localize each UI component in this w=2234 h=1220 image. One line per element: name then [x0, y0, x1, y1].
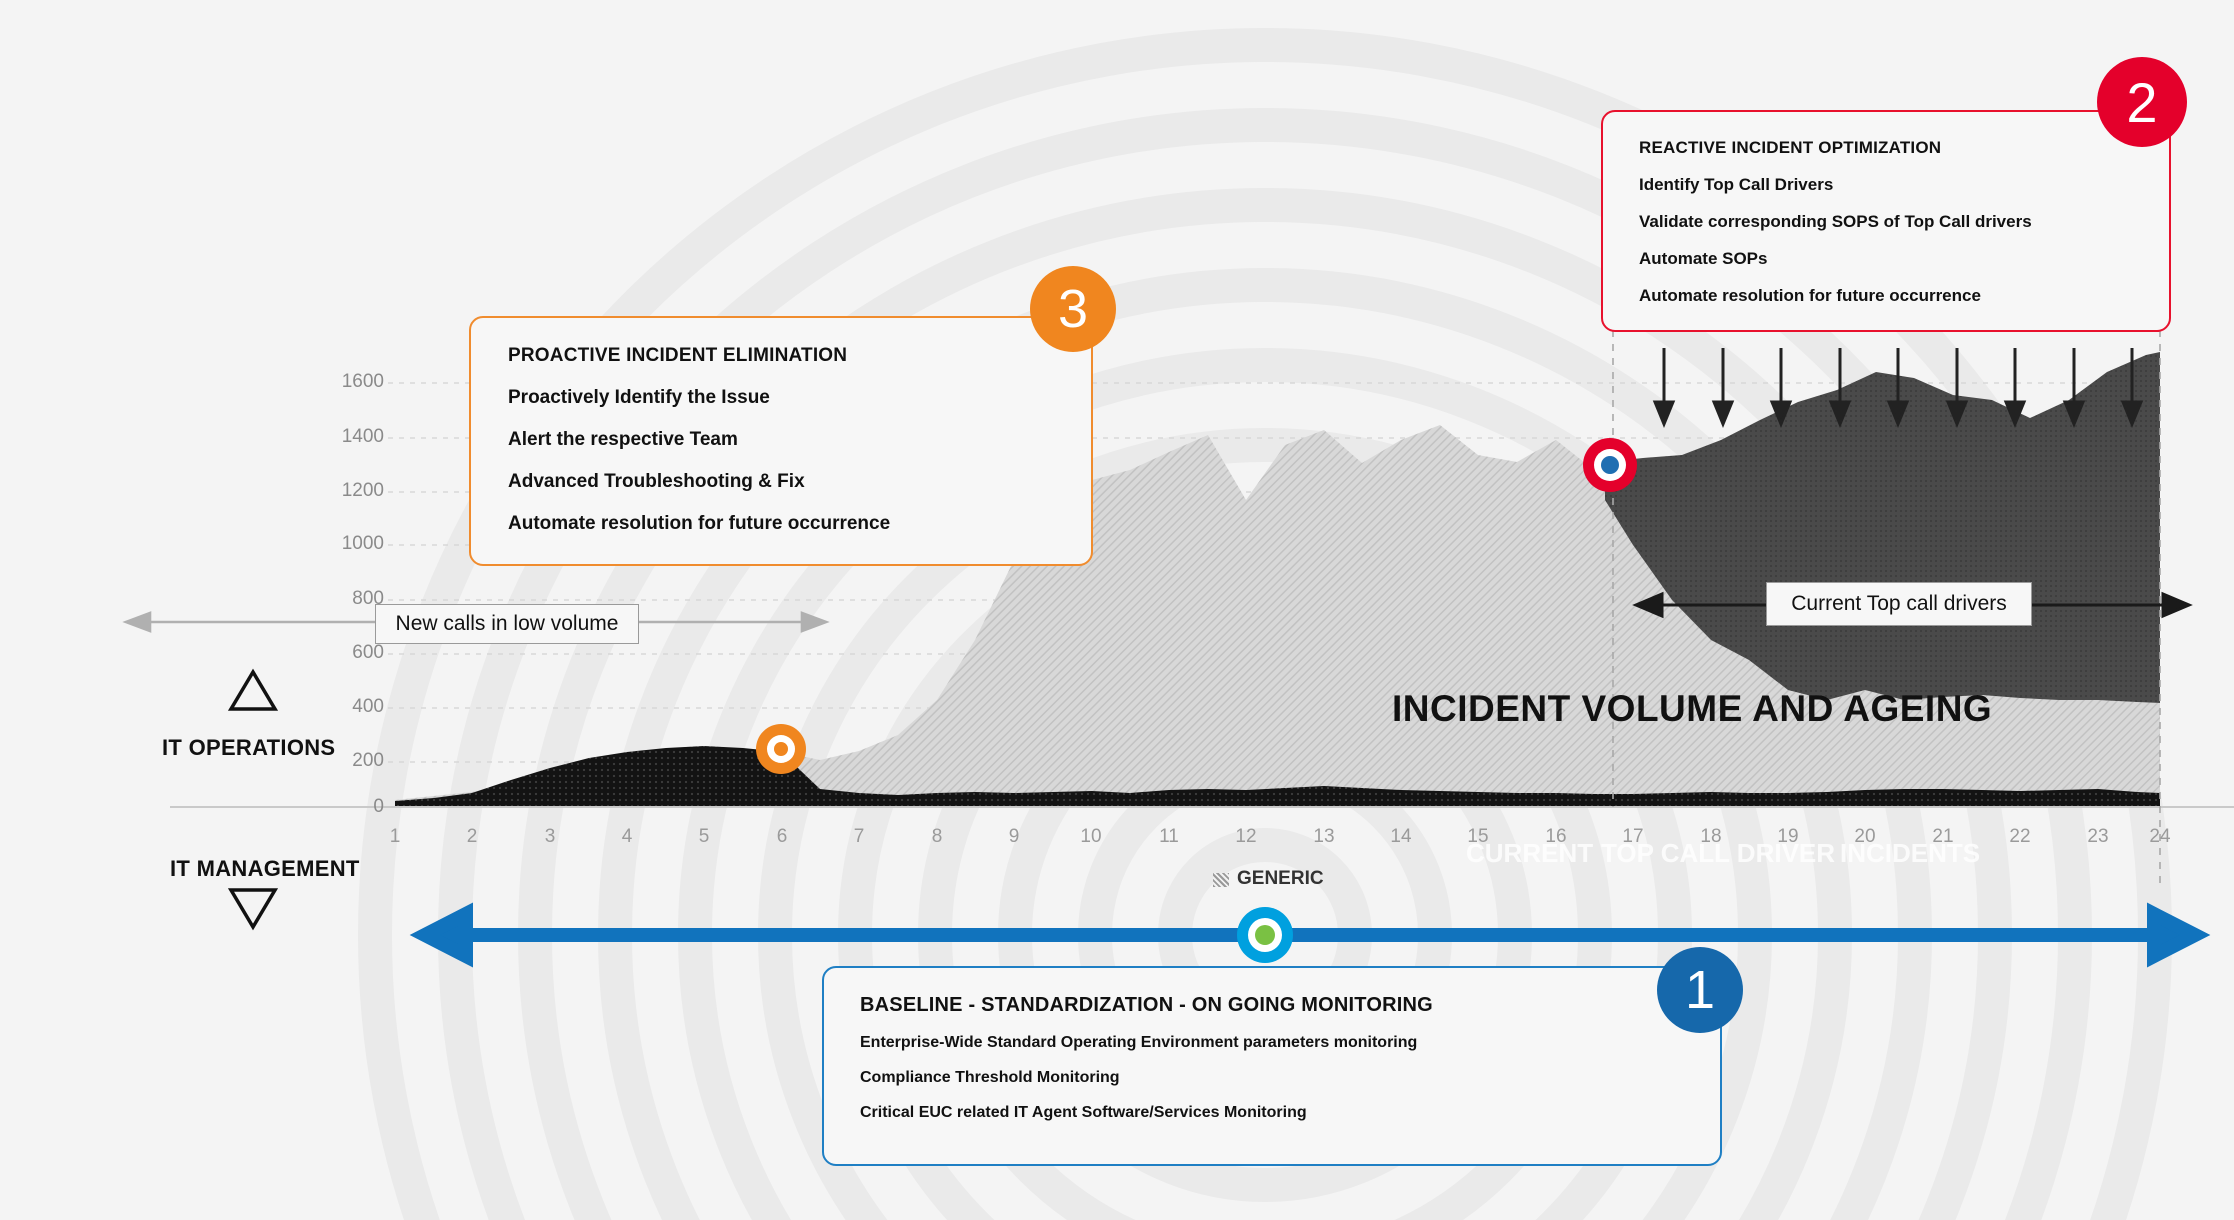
callout-2-line-2: Validate corresponding SOPS of Top Call … [1639, 212, 2169, 232]
callout-2-line-3: Automate SOPs [1639, 249, 2169, 269]
timeline-arrow [425, 914, 2195, 956]
y-tick-1400: 1400 [324, 426, 384, 448]
callout-1-title: BASELINE - STANDARDIZATION - ON GOING MO… [860, 994, 1720, 1017]
callout-1-number-badge[interactable]: 1 [1657, 947, 1743, 1033]
y-tick-1200: 1200 [324, 480, 384, 502]
y-tick-1000: 1000 [324, 533, 384, 555]
y-tick-0: 0 [324, 796, 384, 818]
x-tick-4: 4 [607, 826, 647, 848]
watermark-top-call: TOP CALL DRIVER [1601, 838, 1835, 869]
down-triangle-icon [231, 890, 275, 927]
callout-1-line-2: Compliance Threshold Monitoring [860, 1069, 1720, 1087]
it-operations-label: IT OPERATIONS [162, 735, 335, 761]
x-tick-14: 14 [1381, 826, 1421, 848]
top-call-drivers-annotation: Current Top call drivers [1766, 582, 2032, 626]
callout-2-number-badge[interactable]: 2 [2097, 57, 2187, 147]
callout-1-line-3: Critical EUC related IT Agent Software/S… [860, 1104, 1720, 1122]
generic-legend-label: GENERIC [1237, 868, 1324, 890]
callout-1-line-1: Enterprise-Wide Standard Operating Envir… [860, 1034, 1720, 1052]
x-tick-23: 23 [2078, 826, 2118, 848]
x-tick-8: 8 [917, 826, 957, 848]
callout-2-title: REACTIVE INCIDENT OPTIMIZATION [1639, 138, 2169, 158]
orange-marker-icon [756, 724, 806, 774]
x-tick-1: 1 [375, 826, 415, 848]
x-tick-12: 12 [1226, 826, 1266, 848]
generic-legend-swatch [1213, 873, 1229, 887]
callout-3-line-4: Automate resolution for future occurrenc… [508, 513, 1091, 535]
x-tick-3: 3 [530, 826, 570, 848]
callout-reactive-incident-optimization[interactable]: REACTIVE INCIDENT OPTIMIZATION Identify … [1601, 110, 2171, 332]
x-tick-10: 10 [1071, 826, 1111, 848]
callout-3-line-1: Proactively Identify the Issue [508, 387, 1091, 409]
red-marker-icon [1583, 438, 1637, 492]
callout-3-title: PROACTIVE INCIDENT ELIMINATION [508, 345, 1091, 367]
callout-baseline-standardization[interactable]: BASELINE - STANDARDIZATION - ON GOING MO… [822, 966, 1722, 1166]
watermark-current: CURRENT [1466, 838, 1593, 869]
callout-proactive-incident-elimination[interactable]: PROACTIVE INCIDENT ELIMINATION Proactive… [469, 316, 1093, 566]
x-tick-5: 5 [684, 826, 724, 848]
down-arrows-group [1655, 348, 2141, 424]
timeline-marker-icon [1237, 907, 1293, 963]
callout-2-line-4: Automate resolution for future occurrenc… [1639, 286, 2169, 306]
up-triangle-icon [231, 672, 275, 709]
x-tick-9: 9 [994, 826, 1034, 848]
infographic-canvas: 1600 1400 1200 1000 800 600 400 200 0 1 … [0, 0, 2234, 1220]
callout-3-line-2: Alert the respective Team [508, 429, 1091, 451]
callout-3-line-3: Advanced Troubleshooting & Fix [508, 471, 1091, 493]
x-tick-6: 6 [762, 826, 802, 848]
x-tick-7: 7 [839, 826, 879, 848]
x-tick-2: 2 [452, 826, 492, 848]
y-tick-400: 400 [324, 696, 384, 718]
callout-3-number-badge[interactable]: 3 [1030, 266, 1116, 352]
new-calls-annotation: New calls in low volume [375, 604, 639, 644]
watermark-incidents: INCIDENTS [1840, 838, 1980, 869]
y-tick-600: 600 [324, 642, 384, 664]
x-tick-24: 24 [2140, 826, 2180, 848]
y-tick-1600: 1600 [324, 371, 384, 393]
callout-2-line-1: Identify Top Call Drivers [1639, 175, 2169, 195]
it-management-label: IT MANAGEMENT [170, 856, 360, 882]
chart-title: INCIDENT VOLUME AND AGEING [1392, 688, 1992, 730]
x-tick-11: 11 [1149, 826, 1189, 848]
x-tick-22: 22 [2000, 826, 2040, 848]
x-tick-13: 13 [1304, 826, 1344, 848]
